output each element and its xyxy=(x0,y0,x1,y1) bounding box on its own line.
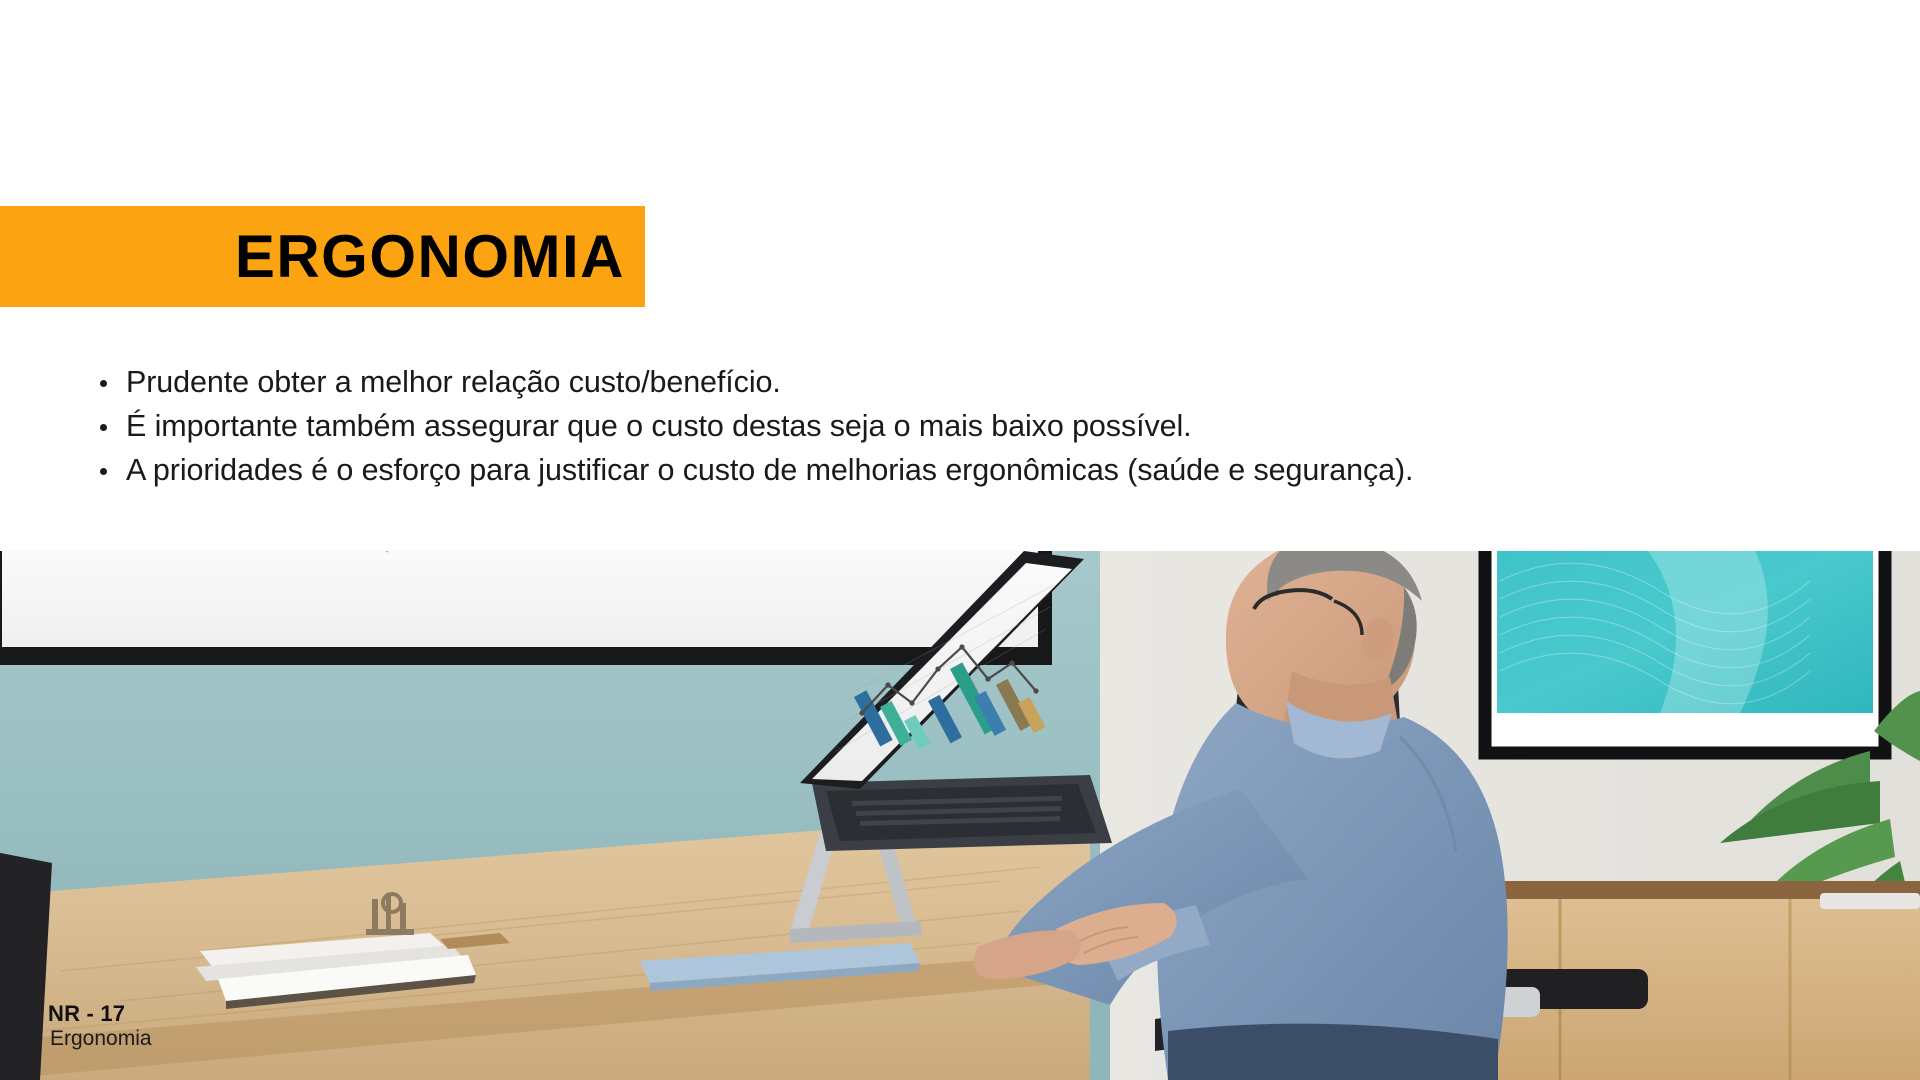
list-item: Prudente obter a melhor relação custo/be… xyxy=(88,360,1848,404)
title-banner: ERGONOMIA xyxy=(0,206,645,307)
page-title: ERGONOMIA xyxy=(0,206,645,307)
office-photo: 0 10 20 30 40 120 120 30 30 30 COST hody… xyxy=(0,551,1920,1080)
footer-subtitle: Ergonomia xyxy=(48,1027,152,1052)
office-photo-illustration xyxy=(0,551,1920,1080)
list-item: A prioridades é o esforço para justifica… xyxy=(88,448,1848,492)
footer-code: NR - 17 xyxy=(48,1001,152,1027)
framed-artwork xyxy=(1485,551,1885,753)
wall-monitor xyxy=(0,551,1052,665)
slide-footer: NR - 17 Ergonomia xyxy=(48,1001,152,1052)
bullet-list: Prudente obter a melhor relação custo/be… xyxy=(88,360,1848,492)
list-item: É importante também assegurar que o cust… xyxy=(88,404,1848,448)
presentation-slide: ERGONOMIA Prudente obter a melhor relaçã… xyxy=(0,0,1920,1080)
